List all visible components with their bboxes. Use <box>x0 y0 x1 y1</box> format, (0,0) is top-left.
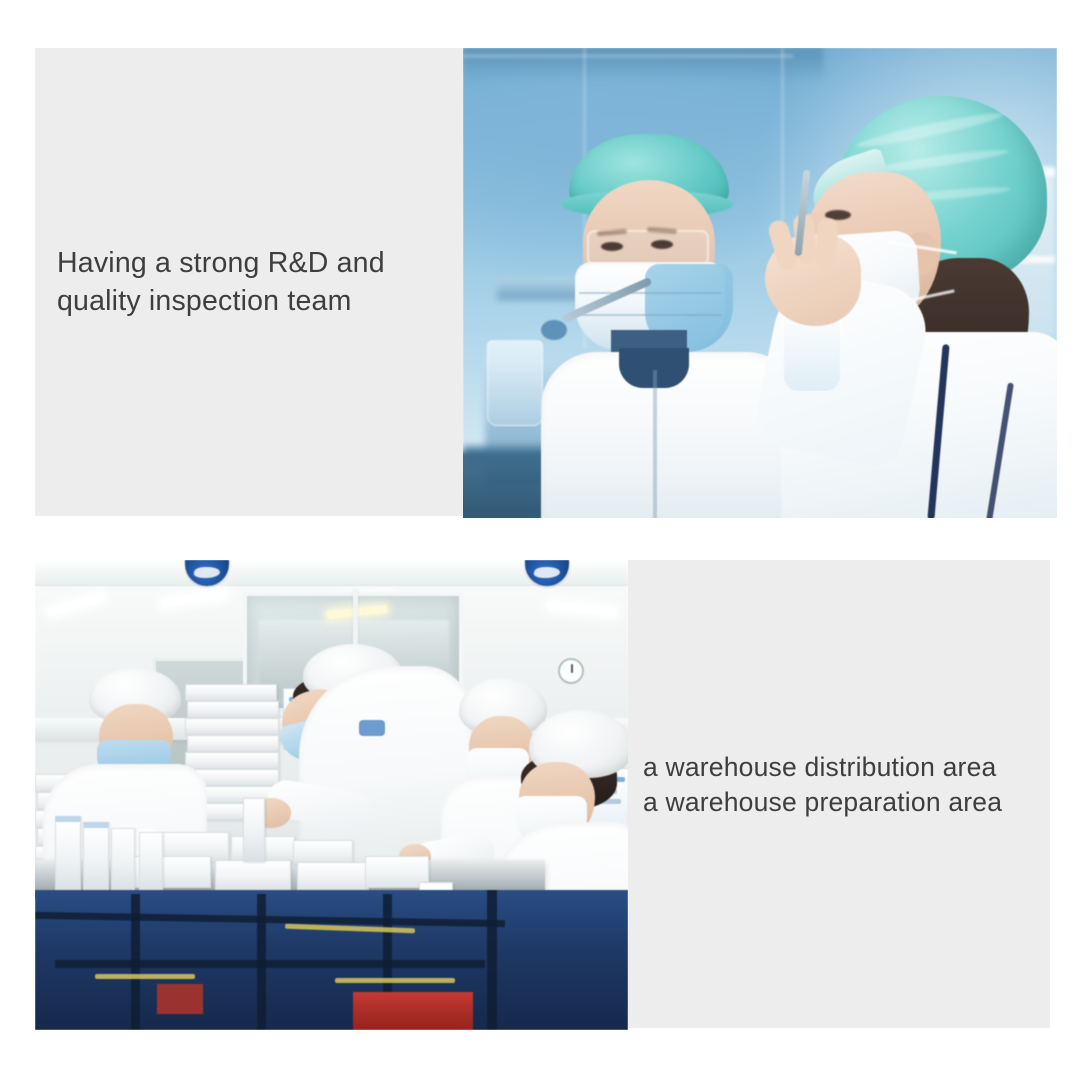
top-caption-line-1: Having a strong R&D and <box>57 247 385 279</box>
cart-rail <box>55 960 485 968</box>
red-crate <box>157 984 203 1014</box>
top-caption-line-2: quality inspection team <box>57 285 352 317</box>
pipette-bulb <box>541 320 567 340</box>
red-crate <box>353 992 473 1030</box>
mask-fold <box>579 292 721 294</box>
warehouse-scene <box>35 560 628 1030</box>
lab-wall-seam <box>463 54 793 58</box>
cart-leg <box>131 894 140 1030</box>
top-caption: Having a strong R&D and quality inspecti… <box>57 244 385 320</box>
lab-quality-inspection-photo <box>463 48 1057 518</box>
top-caption-panel: Having a strong R&D and quality inspecti… <box>35 48 463 516</box>
lab-scene <box>463 48 1057 518</box>
bottom-caption-panel: a warehouse distribution area a warehous… <box>628 560 1050 1028</box>
carton <box>83 822 109 892</box>
carton <box>55 816 81 892</box>
cart-leg <box>257 894 266 1030</box>
eye <box>601 242 623 251</box>
carton <box>293 840 353 864</box>
carton <box>243 798 265 862</box>
coat-logo <box>359 720 385 736</box>
bottom-caption-line-2: a warehouse preparation area <box>643 787 1002 817</box>
bottom-caption: a warehouse distribution area a warehous… <box>643 750 1002 820</box>
carton <box>297 862 369 890</box>
coat-placket <box>653 370 657 518</box>
finger <box>815 217 838 268</box>
cart-leg <box>487 890 497 1030</box>
eye <box>651 240 673 249</box>
floor-marking <box>335 978 455 983</box>
top-block: Having a strong R&D and quality inspecti… <box>35 48 1057 518</box>
collage-page: Having a strong R&D and quality inspecti… <box>0 0 1080 1080</box>
warehouse-packing-photo <box>35 560 628 1030</box>
mask-fold <box>579 314 721 316</box>
lab-technician-right <box>759 82 1057 518</box>
carton <box>139 832 163 892</box>
bottom-block: a warehouse distribution area a warehous… <box>35 560 1050 1030</box>
floor-marking <box>95 974 195 979</box>
bottom-caption-line-1: a warehouse distribution area <box>643 752 996 782</box>
glass-beaker <box>487 340 543 426</box>
carton <box>111 828 135 892</box>
carton <box>215 860 291 890</box>
